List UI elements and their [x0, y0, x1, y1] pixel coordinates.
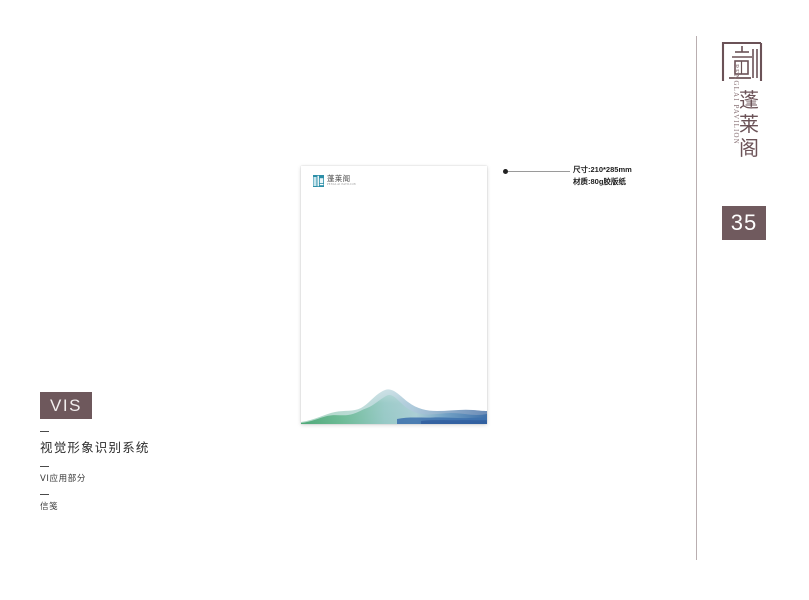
callout-line-material: 材质:80g胶版纸 [573, 176, 632, 188]
callout-text: 尺寸:210*285mm 材质:80g胶版纸 [573, 164, 632, 187]
vis-dash-icon [40, 494, 49, 495]
brand-name-latin: PENGLAI PAVILION [732, 64, 740, 140]
vis-label-item: 信笺 [40, 500, 240, 512]
callout-leader-line [508, 171, 570, 172]
vis-entry-system: 视觉形象识别系统 [40, 431, 240, 456]
right-rail-divider [696, 36, 697, 560]
page-number-badge: 35 [722, 206, 766, 240]
vis-dash-icon [40, 431, 49, 432]
vis-label-system: 视觉形象识别系统 [40, 437, 240, 456]
vis-label-section: VI应用部分 [40, 472, 240, 484]
letterhead-sheet-mockup: 蓬莱阁 PENGLAI PAVILION [301, 166, 487, 424]
sheet-logo-name-cn: 蓬莱阁 [327, 175, 356, 183]
vis-caption-block: VIS 视觉形象识别系统 VI应用部分 信笺 [40, 392, 240, 512]
vis-entry-item: 信笺 [40, 494, 240, 512]
pavilion-logo-icon-small [313, 175, 324, 187]
spec-callout: 尺寸:210*285mm 材质:80g胶版纸 [503, 166, 653, 200]
sheet-logo-name-en: PENGLAI PAVILION [327, 184, 356, 187]
vis-entry-section: VI应用部分 [40, 466, 240, 484]
pavilion-logo-icon [720, 40, 764, 84]
callout-line-size: 尺寸:210*285mm [573, 164, 632, 176]
vis-badge: VIS [40, 392, 92, 419]
vis-dash-icon [40, 466, 49, 467]
sheet-logo-text: 蓬莱阁 PENGLAI PAVILION [327, 175, 356, 187]
brand-block: 蓬 莱 阁 PENGLAI PAVILION [706, 40, 776, 200]
sheet-logo: 蓬莱阁 PENGLAI PAVILION [313, 175, 356, 187]
mountain-range-graphic [301, 378, 487, 424]
